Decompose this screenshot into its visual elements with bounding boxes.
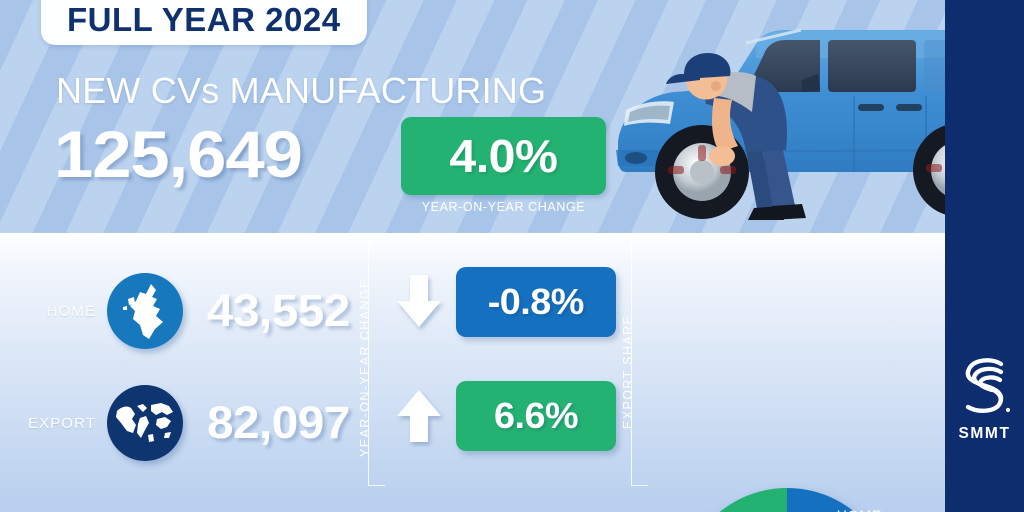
stat-value-export: 82,097 (207, 397, 350, 449)
arrow-up-icon (393, 385, 445, 447)
arrow-down-icon (393, 271, 445, 333)
stat-row-home: HOME 43,552 (14, 273, 342, 349)
change-badge-export: 6.6% (456, 381, 616, 451)
change-bracket-label: YEAR-ON-YEAR CHANGE (358, 271, 372, 457)
change-badge-home: -0.8% (456, 267, 616, 337)
smmt-s-mark (956, 352, 1014, 418)
period-badge: FULL YEAR 2024 (41, 0, 367, 45)
change-value-export: 6.6% (494, 395, 578, 437)
headline-change-value: 4.0% (449, 129, 557, 183)
smmt-logo: SMMT (945, 352, 1024, 443)
stat-label-export: EXPORT (14, 415, 96, 432)
change-value-home: -0.8% (488, 281, 584, 323)
breakdown-band: HOME 43,552 EXPORT (0, 233, 1024, 512)
stat-row-export: EXPORT 82,097 (14, 385, 342, 461)
stat-label-home: HOME (14, 303, 96, 320)
period-label: FULL YEAR 2024 (67, 3, 341, 36)
page-title: NEW CVs MANUFACTURING (56, 73, 546, 109)
export-share-donut-chart: HOME 34.7% EXPORTS 65.3% (672, 480, 902, 512)
stat-value-home: 43,552 (207, 285, 350, 337)
smmt-wordmark: SMMT (945, 425, 1024, 443)
uk-map-icon (107, 273, 183, 349)
donut-home-label: HOME (790, 507, 882, 512)
headline-change-caption: YEAR-ON-YEAR CHANGE (401, 200, 606, 214)
headline-value: 125,649 (54, 121, 302, 187)
header-band: FULL YEAR 2024 NEW CVs MANUFACTURING 125… (0, 0, 1024, 233)
infographic-root: FULL YEAR 2024 NEW CVs MANUFACTURING 125… (0, 0, 1024, 512)
globe-icon (107, 385, 183, 461)
headline-change-badge: 4.0% (401, 117, 606, 195)
share-bracket-label: EXPORT SHARE (621, 299, 635, 429)
